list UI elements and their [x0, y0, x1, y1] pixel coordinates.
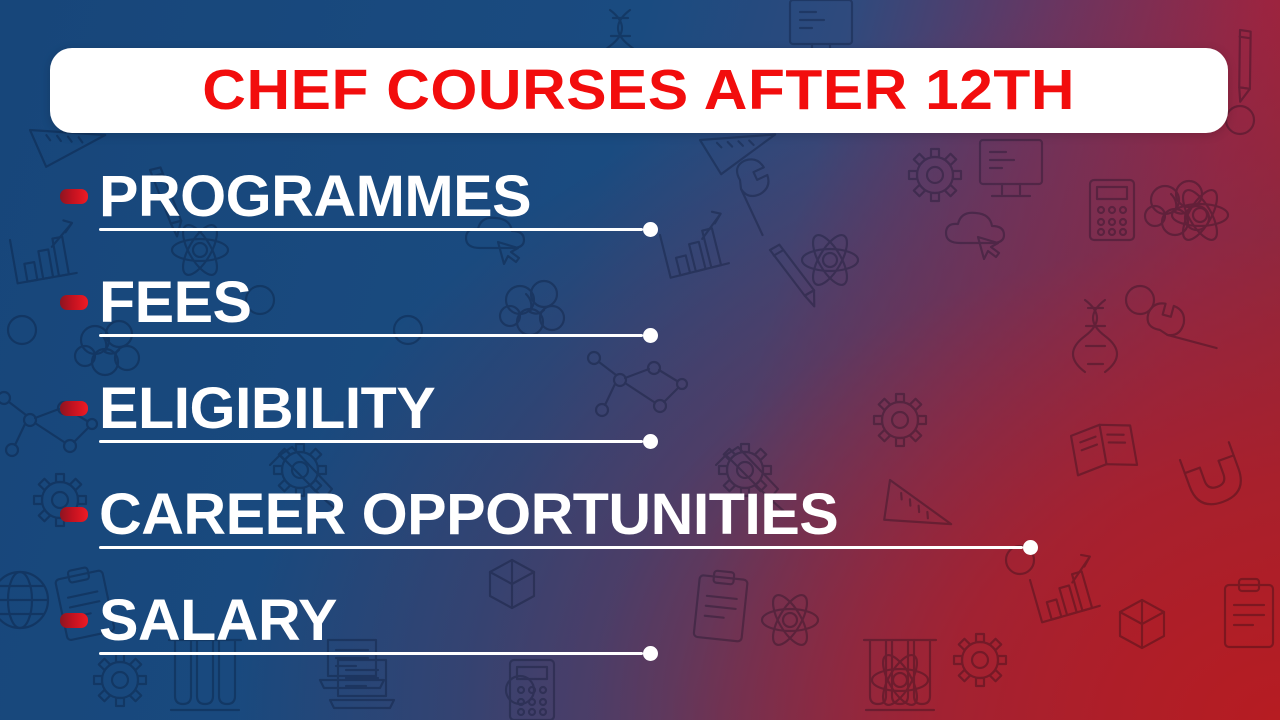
list-item[interactable]: PROGRAMMES	[0, 162, 1280, 268]
list-item-label: ELIGIBILITY	[99, 374, 435, 444]
underline-rule	[99, 652, 643, 655]
underline-rule	[99, 546, 1023, 549]
page-title: CHEF COURSES AFTER 12TH	[203, 62, 1076, 119]
bullet-icon	[60, 613, 88, 628]
bullet-icon	[60, 507, 88, 522]
bullet-icon	[60, 295, 88, 310]
underline-rule	[99, 440, 643, 443]
underline-rule	[99, 334, 643, 337]
list-item[interactable]: ELIGIBILITY	[0, 374, 1280, 480]
list-item[interactable]: FEES	[0, 268, 1280, 374]
list-item-label: SALARY	[99, 586, 337, 656]
bullet-icon	[60, 189, 88, 204]
list-item[interactable]: SALARY	[0, 586, 1280, 692]
bullet-icon	[60, 401, 88, 416]
list-item-label: FEES	[99, 268, 251, 338]
underline-rule	[99, 228, 643, 231]
list-item[interactable]: CAREER OPPORTUNITIES	[0, 480, 1280, 586]
rule-end-dot-icon	[1023, 540, 1038, 555]
topic-list: PROGRAMMES FEES ELIGIBILITY CAREER OPPOR…	[0, 162, 1280, 692]
rule-end-dot-icon	[643, 222, 658, 237]
rule-end-dot-icon	[643, 328, 658, 343]
list-item-label: PROGRAMMES	[99, 162, 531, 232]
slide-canvas: CHEF COURSES AFTER 12TH PROGRAMMES FEES …	[0, 0, 1280, 720]
title-banner: CHEF COURSES AFTER 12TH	[50, 48, 1228, 133]
list-item-label: CAREER OPPORTUNITIES	[99, 480, 838, 550]
rule-end-dot-icon	[643, 434, 658, 449]
rule-end-dot-icon	[643, 646, 658, 661]
